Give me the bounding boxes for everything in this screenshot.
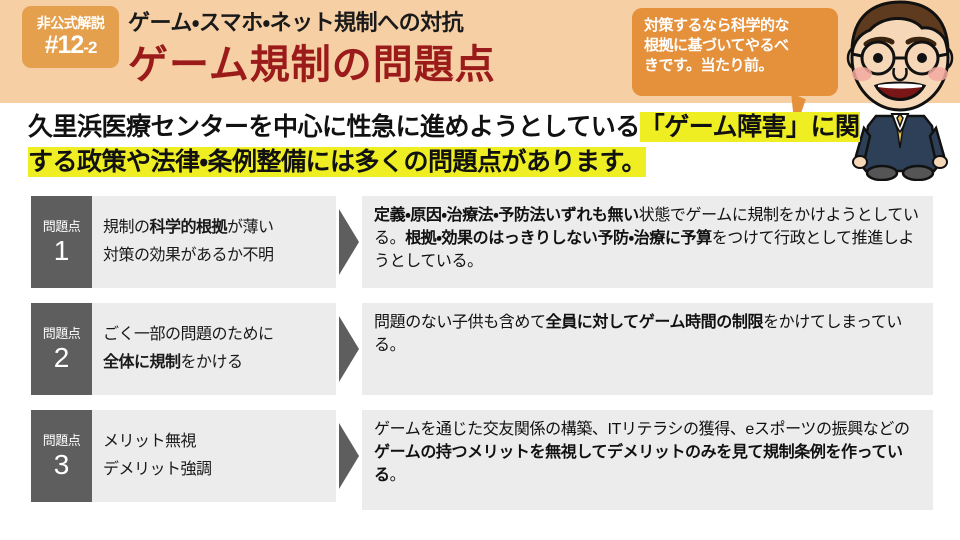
problem-list: 問題点 1 規制の科学的根拠が薄い 対策の効果があるか不明 定義・原因・治療法・…	[0, 196, 960, 525]
page-title: ゲーム規制の問題点	[128, 32, 496, 90]
problem-number-block: 問題点 2	[31, 303, 92, 395]
problem-label: 問題点	[43, 327, 81, 340]
arrow-right-icon	[339, 316, 359, 382]
summary-plain-after: をかける	[181, 354, 243, 371]
description-plain-segment: 。	[390, 467, 406, 484]
summary-plain-after: が薄い	[227, 219, 274, 236]
summary-plain-before: 規制の	[103, 219, 150, 236]
problem-summary-block: 問題点 2 ごく一部の問題のために 全体に規制をかける	[31, 303, 336, 395]
problem-summary-block: 問題点 3 メリット無視 デメリット強調	[31, 410, 336, 502]
problem-number: 1	[54, 237, 70, 265]
description-plain-segment: ゲームを通じた交友関係の構築、ITリテラシの獲得、eスポーツの振興などの	[374, 421, 910, 438]
problem-summary-line-1: 規制の科学的根拠が薄い	[103, 214, 336, 242]
episode-number-sub: -2	[83, 38, 96, 57]
problem-description: 問題のない子供も含めて全員に対してゲーム時間の制限をかけてしまっている。	[362, 303, 933, 395]
problem-description: 定義・原因・治療法・予防法いずれも無い状態でゲームに規制をかけようとしている。根…	[362, 196, 933, 288]
problem-label: 問題点	[43, 434, 81, 447]
description-bold-segment: 根拠・効果のはっきりしない予防・治療に予算	[405, 230, 711, 247]
episode-badge-kicker: 非公式解説	[37, 16, 105, 30]
problem-number: 2	[54, 344, 70, 372]
arrow-right-icon	[339, 209, 359, 275]
summary-plain-before: デメリット強調	[103, 461, 212, 478]
episode-number-main: #12	[45, 31, 84, 59]
summary-bold: 全体に規制	[103, 354, 181, 371]
problem-number: 3	[54, 451, 70, 479]
slide-canvas: 非公式解説 #12-2 ゲーム・スマホ・ネット規制への対抗 ゲーム規制の問題点 …	[0, 0, 960, 540]
speech-bubble-line-1: 対策するなら科学的な	[644, 16, 828, 36]
problem-summary-line-2: 全体に規制をかける	[103, 349, 336, 377]
summary-plain-before: メリット無視	[103, 433, 196, 450]
problem-summary-block: 問題点 1 規制の科学的根拠が薄い 対策の効果があるか不明	[31, 196, 336, 288]
problem-summary-line-2: デメリット強調	[103, 456, 336, 484]
problem-summary-text: 規制の科学的根拠が薄い 対策の効果があるか不明	[92, 196, 336, 288]
summary-bold: 科学的根拠	[150, 219, 228, 236]
problem-row: 問題点 3 メリット無視 デメリット強調 ゲームを通じた交友関係の構築、ITリテ…	[0, 410, 960, 510]
description-plain-segment: 問題のない子供も含めて	[374, 314, 546, 331]
description-bold-segment: ゲームの持つメリットを無視してデメリットのみを見て規制条例を作っている	[374, 444, 903, 484]
problem-summary-line-2: 対策の効果があるか不明	[103, 242, 336, 270]
problem-number-block: 問題点 3	[31, 410, 92, 502]
problem-row: 問題点 1 規制の科学的根拠が薄い 対策の効果があるか不明 定義・原因・治療法・…	[0, 196, 960, 288]
problem-description: ゲームを通じた交友関係の構築、ITリテラシの獲得、eスポーツの振興などのゲームの…	[362, 410, 933, 510]
summary-plain-before: 対策の効果があるか不明	[103, 247, 274, 264]
summary-plain-before: ごく一部の問題のために	[103, 326, 274, 343]
description-bold-segment: 定義・原因・治療法・予防法いずれも無い	[374, 207, 639, 224]
episode-badge-number: #12-2	[45, 33, 97, 58]
problem-summary-line-1: ごく一部の問題のために	[103, 321, 336, 349]
problem-summary-text: メリット無視 デメリット強調	[92, 410, 336, 502]
problem-summary-text: ごく一部の問題のために 全体に規制をかける	[92, 303, 336, 395]
lead-sentence: 久里浜医療センターを中心に性急に進めようとしている「ゲーム障害」に関する政策や法…	[28, 110, 936, 179]
lead-plain-text: 久里浜医療センターを中心に性急に進めようとしている	[28, 113, 640, 141]
problem-row: 問題点 2 ごく一部の問題のために 全体に規制をかける 問題のない子供も含めて全…	[0, 303, 960, 395]
speech-bubble-line-2: 根拠に基づいてやるべ	[644, 36, 828, 56]
lead-highlight-1: 「ゲーム障害」に関	[640, 112, 860, 142]
problem-label: 問題点	[43, 220, 81, 233]
speech-bubble: 対策するなら科学的な 根拠に基づいてやるべ きです。当たり前。	[632, 8, 838, 96]
episode-badge: 非公式解説 #12-2	[22, 6, 119, 68]
problem-summary-line-1: メリット無視	[103, 428, 336, 456]
arrow-right-icon	[339, 423, 359, 489]
description-bold-segment: 全員に対してゲーム時間の制限	[546, 314, 763, 331]
speech-bubble-line-3: きです。当たり前。	[644, 56, 828, 76]
problem-number-block: 問題点 1	[31, 196, 92, 288]
lead-highlight-2: する政策や法律・条例整備には多くの問題点があります。	[28, 147, 646, 177]
